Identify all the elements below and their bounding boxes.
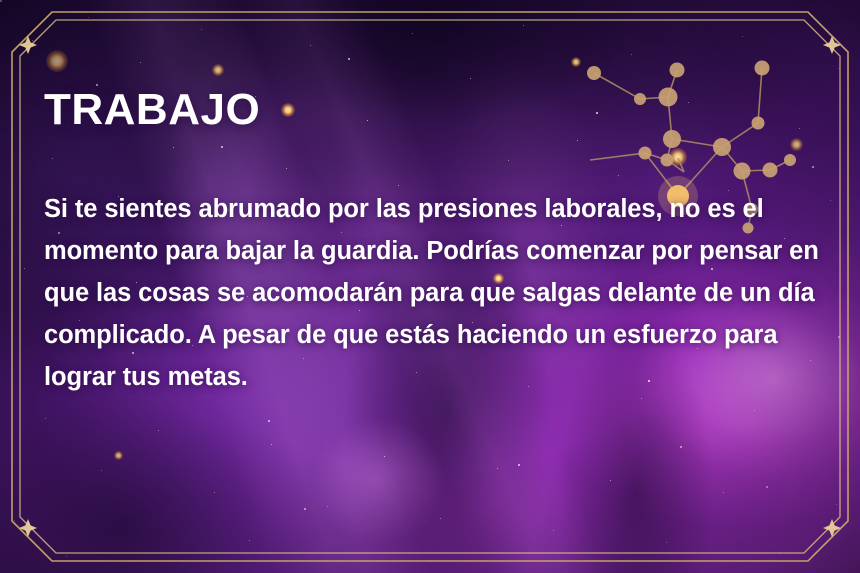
starfield-medium — [0, 0, 2, 2]
horoscope-card: TRABAJO Si te sientes abrumado por las p… — [0, 0, 860, 573]
card-content: TRABAJO Si te sientes abrumado por las p… — [44, 88, 824, 398]
sparkle-bottom-right — [823, 519, 841, 537]
starfield-small — [0, 0, 1, 1]
glow-star-4 — [571, 57, 581, 67]
page-title: TRABAJO — [44, 88, 824, 132]
sparkle-bottom-left — [19, 519, 37, 537]
glow-star-1 — [46, 50, 68, 72]
sparkle-top-left — [19, 36, 37, 54]
horoscope-body-text: Si te sientes abrumado por las presiones… — [44, 188, 819, 398]
glow-star-2 — [212, 64, 224, 76]
glow-star-8 — [114, 451, 123, 460]
sparkle-top-right — [823, 36, 841, 54]
